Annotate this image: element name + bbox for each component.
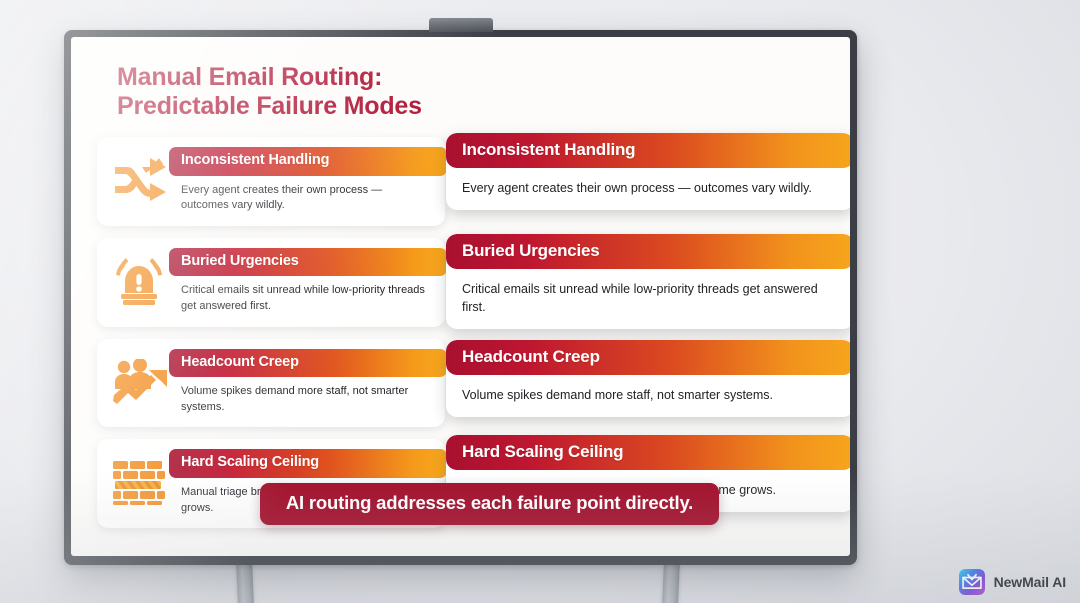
overlay-card-title: Inconsistent Handling — [446, 133, 850, 168]
base-card-body: Inconsistent Handling Every agent create… — [175, 145, 435, 214]
webcam-bump-icon — [429, 18, 493, 32]
shuffle-arrows-icon — [103, 149, 175, 211]
base-card-description: Volume spikes demand more staff, not sma… — [175, 377, 435, 415]
base-card-title: Headcount Creep — [169, 349, 447, 378]
base-card-title: Hard Scaling Ceiling — [169, 449, 447, 478]
scene-backdrop: Manual Email Routing: Predictable Failur… — [0, 0, 1080, 603]
failure-mode-row: Inconsistent Handling Every agent create… — [97, 137, 824, 226]
overlay-card-description: Volume spikes demand more staff, not sma… — [446, 375, 850, 417]
monitor-stand-leg-left — [236, 563, 254, 603]
overlay-card-title: Buried Urgencies — [446, 234, 850, 269]
summary-banner: AI routing addresses each failure point … — [260, 483, 719, 525]
overlay-card-title: Hard Scaling Ceiling — [446, 435, 850, 470]
monitor-frame: Manual Email Routing: Predictable Failur… — [64, 30, 857, 565]
base-card-title: Buried Urgencies — [169, 248, 447, 277]
siren-alert-icon — [103, 250, 175, 312]
base-card-buried-urgencies[interactable]: Buried Urgencies Critical emails sit unr… — [97, 238, 445, 327]
base-card-headcount-creep[interactable]: Headcount Creep Volume spikes demand mor… — [97, 339, 445, 428]
monitor-stand-leg-right — [662, 563, 680, 603]
base-card-description: Critical emails sit unread while low-pri… — [175, 276, 435, 314]
brand-lockup: NewMail AI — [959, 569, 1066, 595]
slide-canvas: Manual Email Routing: Predictable Failur… — [71, 37, 850, 556]
overlay-card-description: Every agent creates their own process — … — [446, 168, 850, 210]
base-card-body: Buried Urgencies Critical emails sit unr… — [175, 246, 435, 315]
overlay-card-title: Headcount Creep — [446, 340, 850, 375]
brand-name: NewMail AI — [994, 574, 1066, 590]
people-growth-chart-icon — [103, 351, 175, 413]
overlay-card-buried-urgencies[interactable]: Buried Urgencies Critical emails sit unr… — [446, 234, 850, 329]
base-card-body: Headcount Creep Volume spikes demand mor… — [175, 347, 435, 416]
overlay-card-headcount-creep[interactable]: Headcount Creep Volume spikes demand mor… — [446, 340, 850, 417]
page-title: Manual Email Routing: Predictable Failur… — [117, 63, 824, 121]
overlay-card-inconsistent-handling[interactable]: Inconsistent Handling Every agent create… — [446, 133, 850, 210]
envelope-logo-icon — [959, 569, 985, 595]
base-card-description: Every agent creates their own process — … — [175, 176, 435, 214]
base-card-inconsistent-handling[interactable]: Inconsistent Handling Every agent create… — [97, 137, 445, 226]
failure-mode-row: Headcount Creep Volume spikes demand mor… — [97, 339, 824, 428]
base-card-title: Inconsistent Handling — [169, 147, 447, 176]
summary-banner-wrap: AI routing addresses each failure point … — [71, 483, 850, 525]
overlay-card-description: Critical emails sit unread while low-pri… — [446, 269, 850, 329]
failure-mode-row: Buried Urgencies Critical emails sit unr… — [97, 238, 824, 327]
monitor-screen: Manual Email Routing: Predictable Failur… — [71, 37, 850, 556]
